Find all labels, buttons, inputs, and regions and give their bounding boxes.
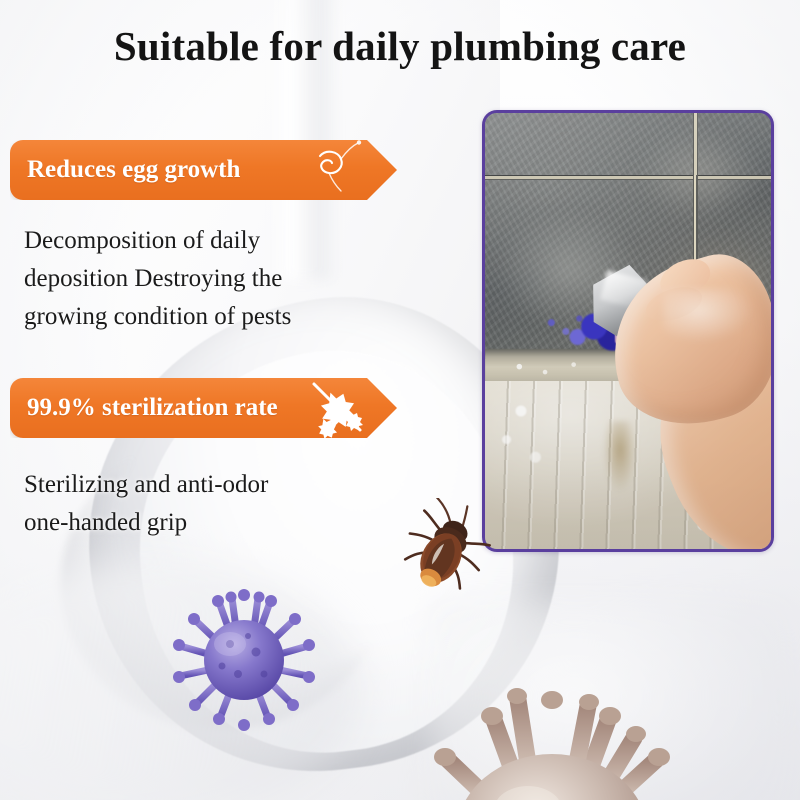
photo-inner: [485, 113, 771, 549]
page-title: Suitable for daily plumbing care: [0, 22, 800, 70]
feature-banner-2-label: 99.9% sterilization rate: [10, 394, 278, 422]
product-feature-poster: Suitable for daily plumbing care Reduces…: [0, 0, 800, 800]
feature-banner-1: Reduces egg growth: [10, 140, 397, 200]
feature-banner-2: 99.9% sterilization rate: [10, 378, 397, 438]
product-demo-photo: [482, 110, 774, 552]
cockroach-illustration: [396, 498, 500, 596]
feature-banner-1-label: Reduces egg growth: [10, 156, 240, 184]
virus-purple-illustration: [168, 582, 320, 732]
feature-body-1: Decomposition of daily deposition Destro…: [24, 222, 364, 336]
feature-body-2: Sterilizing and anti-odor one-handed gri…: [24, 466, 364, 542]
photo-gloss: [485, 113, 771, 549]
virus-tan-illustration: [418, 668, 686, 800]
